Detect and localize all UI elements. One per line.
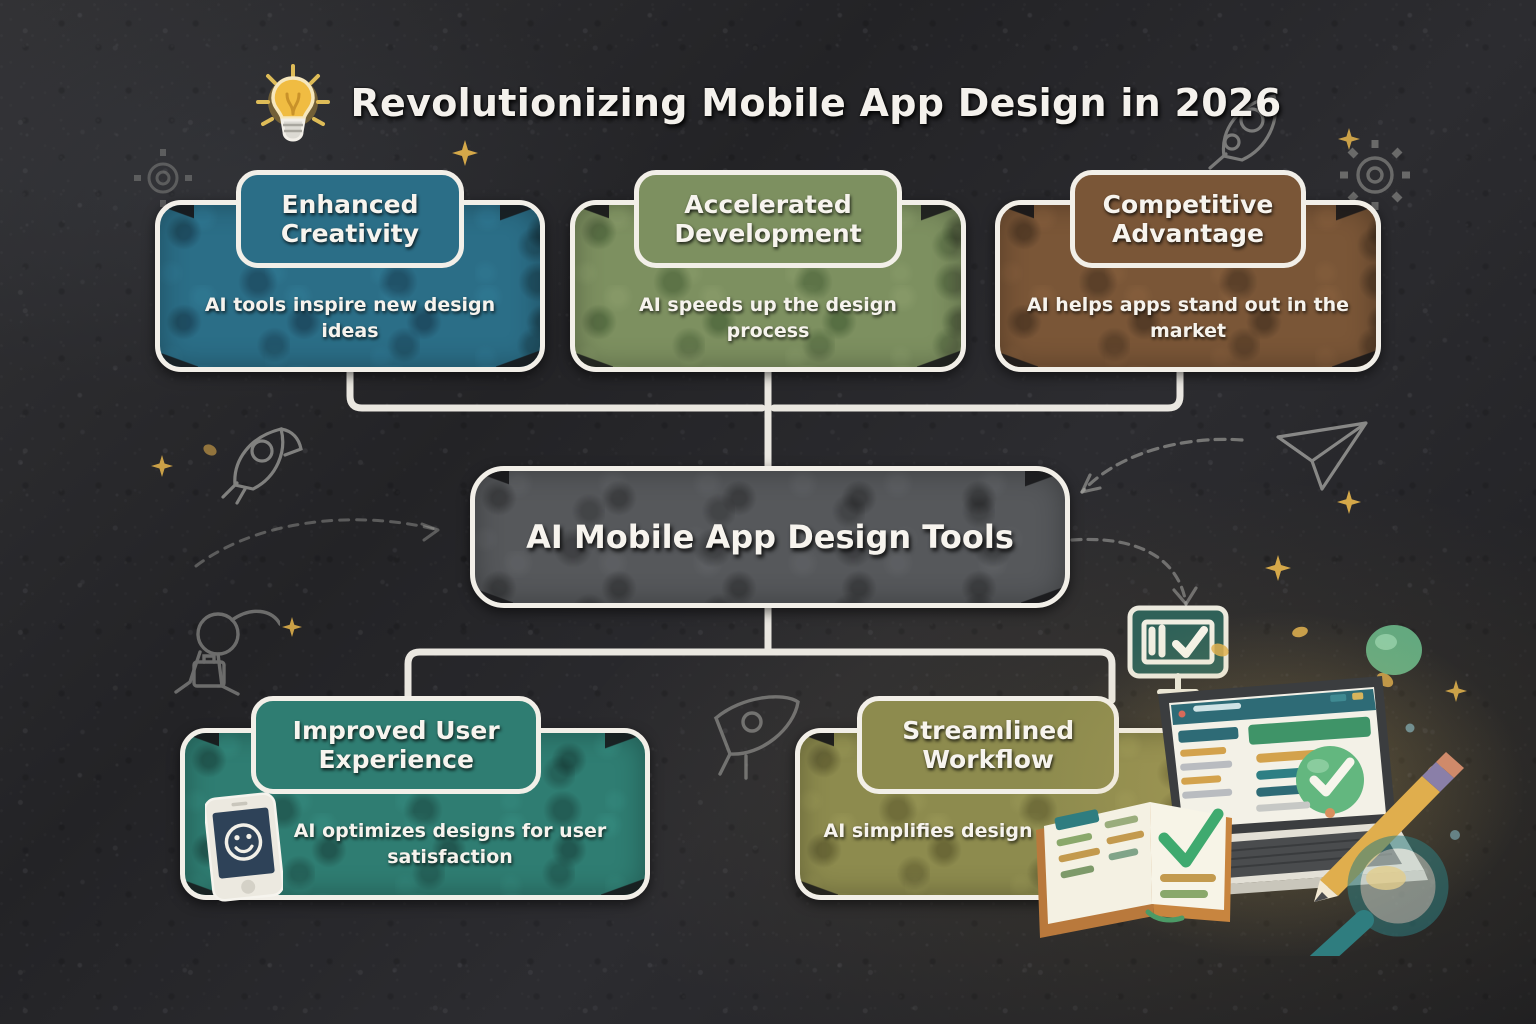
node-center-ai-mobile-app-design-tools[interactable]: AI Mobile App Design Tools — [470, 466, 1070, 608]
node-enhanced-creativity[interactable]: Enhanced Creativity AI tools inspire new… — [155, 200, 545, 372]
node-enhanced-creativity-description: AI tools inspire new design ideas — [155, 292, 545, 344]
node-competitive-advantage-description: AI helps apps stand out in the market — [995, 292, 1381, 344]
open-book-icon — [1036, 802, 1232, 938]
page-title: Revolutionizing Mobile App Design in 202… — [350, 81, 1281, 125]
desk-workspace-illustration — [1030, 586, 1530, 956]
node-competitive-advantage[interactable]: Competitive Advantage AI helps apps stan… — [995, 200, 1381, 372]
node-accelerated-development-title: Accelerated Development — [634, 170, 902, 268]
node-improved-user-experience-title: Improved User Experience — [251, 696, 541, 794]
page-title-row: Revolutionizing Mobile App Design in 202… — [0, 62, 1536, 144]
node-accelerated-development[interactable]: Accelerated Development AI speeds up the… — [570, 200, 966, 372]
node-accelerated-development-description: AI speeds up the design process — [570, 292, 966, 344]
node-competitive-advantage-title: Competitive Advantage — [1070, 170, 1306, 268]
smartphone-smiley-icon — [205, 792, 283, 902]
lightbulb-icon — [254, 62, 332, 144]
node-enhanced-creativity-title: Enhanced Creativity — [236, 170, 464, 268]
node-center-title: AI Mobile App Design Tools — [470, 466, 1070, 608]
